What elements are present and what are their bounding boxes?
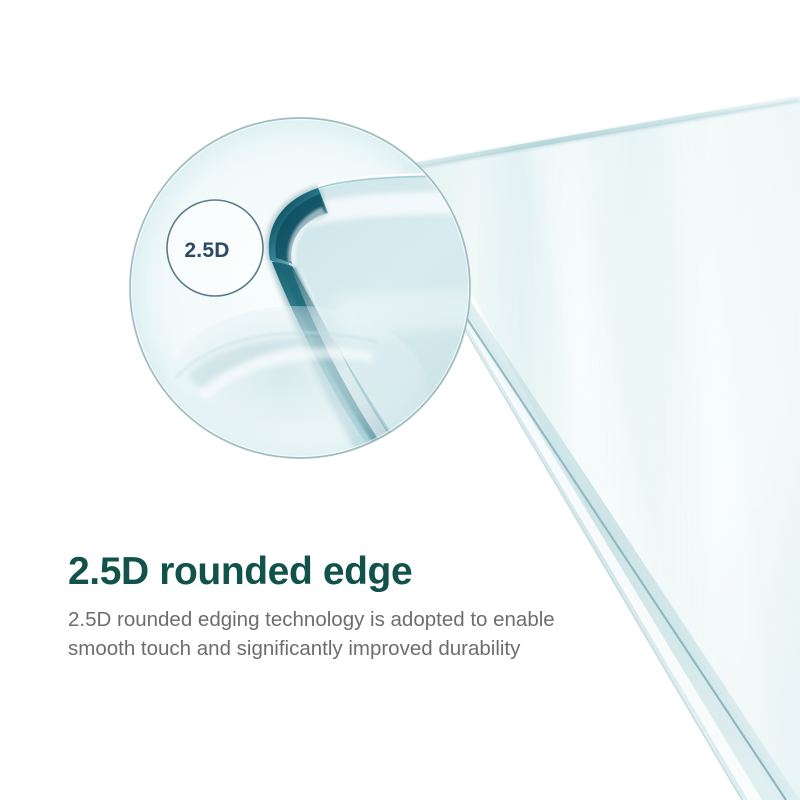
description-line-1: 2.5D rounded edging technology is adopte… bbox=[68, 605, 588, 634]
page-title: 2.5D rounded edge bbox=[68, 552, 628, 593]
description-line-2: smooth touch and significantly improved … bbox=[68, 634, 588, 663]
caption-block: 2.5D rounded edge 2.5D rounded edging te… bbox=[68, 552, 628, 663]
glass-edge-illustration: 2.5D bbox=[0, 0, 800, 800]
product-feature-graphic: 2.5D 2.5D rounded edge 2.5D rounded edgi… bbox=[0, 0, 800, 800]
page-description: 2.5D rounded edging technology is adopte… bbox=[68, 605, 588, 663]
callout-2-5d: 2.5D bbox=[167, 200, 263, 296]
callout-label: 2.5D bbox=[184, 239, 229, 262]
